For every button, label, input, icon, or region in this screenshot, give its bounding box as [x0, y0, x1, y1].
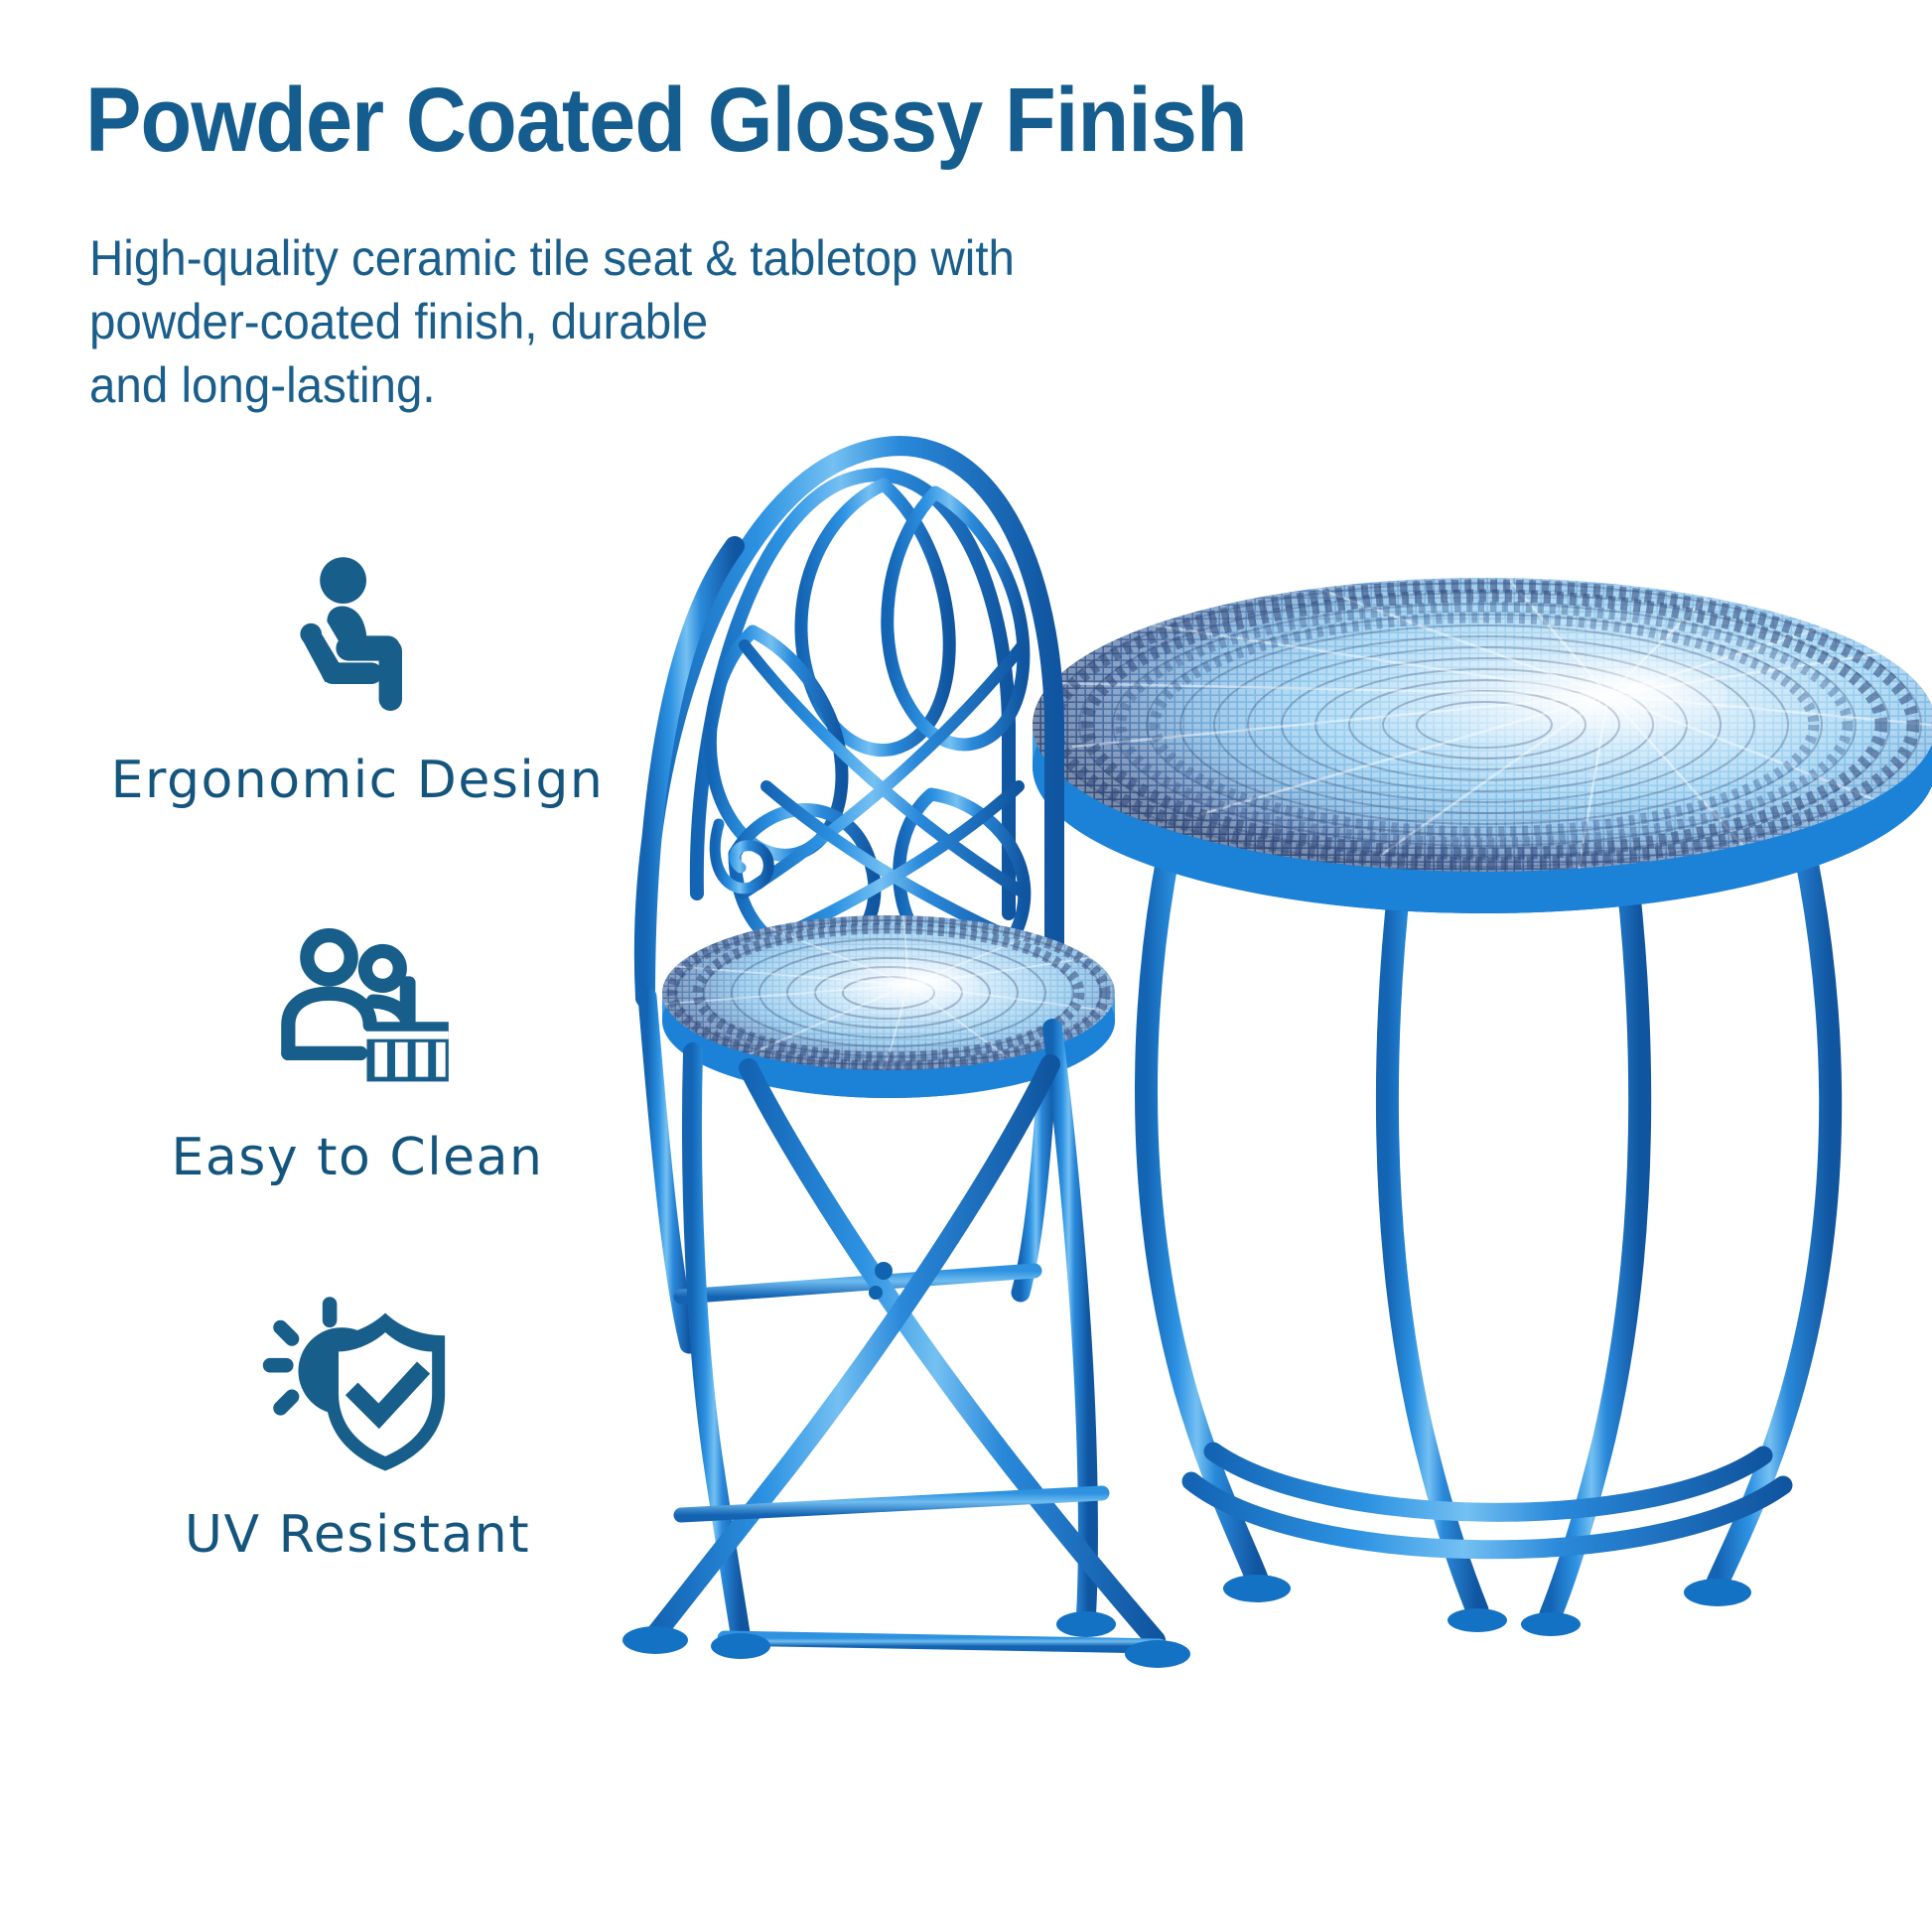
- feature-list: Ergonomic Design: [79, 526, 635, 1658]
- feature-label-easy-to-clean: Easy to Clean: [79, 1128, 635, 1187]
- subtitle-block: High-quality ceramic tile seat & tableto…: [89, 226, 1315, 417]
- bistro-folding-chair: [622, 446, 1190, 1668]
- bistro-table: [1033, 578, 1932, 1636]
- page-title: Powder Coated Glossy Finish: [85, 77, 1620, 164]
- feature-item-uv-resistant: UV Resistant: [79, 1281, 635, 1658]
- feature-item-ergonomic-design: Ergonomic Design: [79, 526, 635, 903]
- feature-label-uv-resistant: UV Resistant: [79, 1505, 635, 1565]
- feature-label-ergonomic-design: Ergonomic Design: [79, 751, 635, 810]
- sun-shield-check-icon: [79, 1281, 635, 1489]
- feature-item-easy-to-clean: Easy to Clean: [79, 903, 635, 1281]
- product-photo-bistro-set: [586, 397, 1932, 1932]
- seated-person-icon: [79, 526, 635, 735]
- subtitle-line-1: High-quality ceramic tile seat & tableto…: [89, 226, 1315, 290]
- product-feature-banner: Powder Coated Glossy Finish High-quality…: [0, 0, 1932, 1932]
- subtitle-line-2: powder-coated finish, durable: [89, 290, 1315, 353]
- person-cleaning-brush-icon: [79, 903, 635, 1112]
